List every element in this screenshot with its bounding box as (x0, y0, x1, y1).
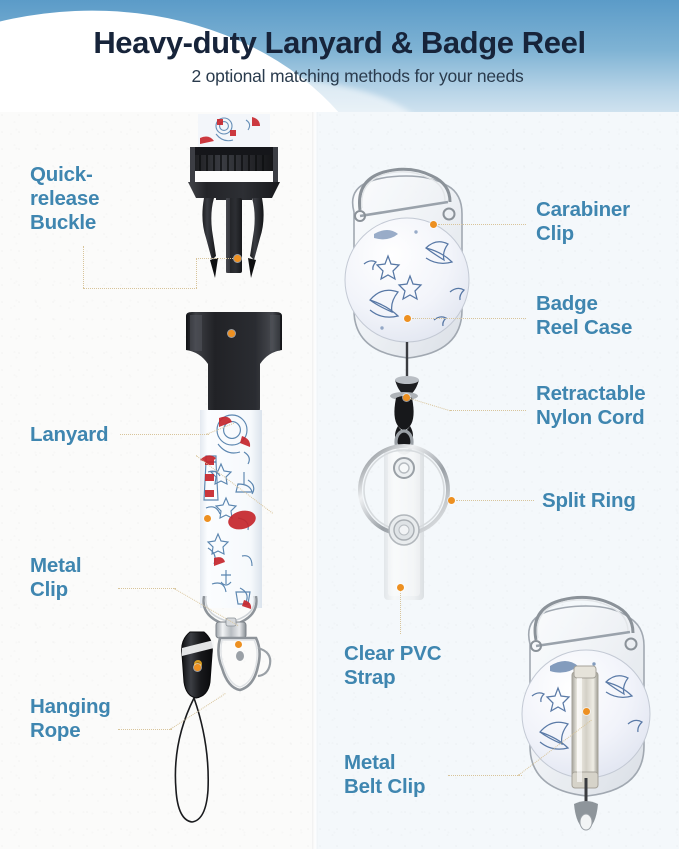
badge-reel-back-art (506, 566, 678, 849)
label-badge-reel-case: Badge Reel Case (536, 292, 632, 340)
page-title: Heavy-duty Lanyard & Badge Reel (93, 27, 585, 60)
panel-divider (312, 112, 318, 849)
label-metal-belt-clip: Metal Belt Clip (344, 751, 425, 799)
label-carabiner-clip: Carabiner Clip (536, 198, 630, 246)
lanyard-strap-art (178, 312, 290, 617)
page-header: Heavy-duty Lanyard & Badge Reel 2 option… (0, 0, 679, 112)
infographic-page: Heavy-duty Lanyard & Badge Reel 2 option… (0, 0, 679, 849)
label-lanyard: Lanyard (30, 423, 108, 447)
label-clear-pvc-strap: Clear PVC Strap (344, 642, 441, 690)
quick-release-buckle-art (176, 114, 292, 289)
label-metal-clip: Metal Clip (30, 554, 81, 602)
metal-clip-and-hanging-rope-art (160, 596, 292, 849)
badge-reel-front-art (330, 152, 490, 422)
label-retractable-nylon-cord: Retractable Nylon Cord (536, 382, 645, 430)
split-ring-and-pvc-strap-art (352, 390, 462, 620)
label-split-ring: Split Ring (542, 489, 636, 513)
label-hanging-rope: Hanging Rope (30, 695, 111, 743)
page-subtitle: 2 optional matching methods for your nee… (155, 67, 523, 85)
label-quick-release-buckle: Quick- release Buckle (30, 163, 99, 235)
